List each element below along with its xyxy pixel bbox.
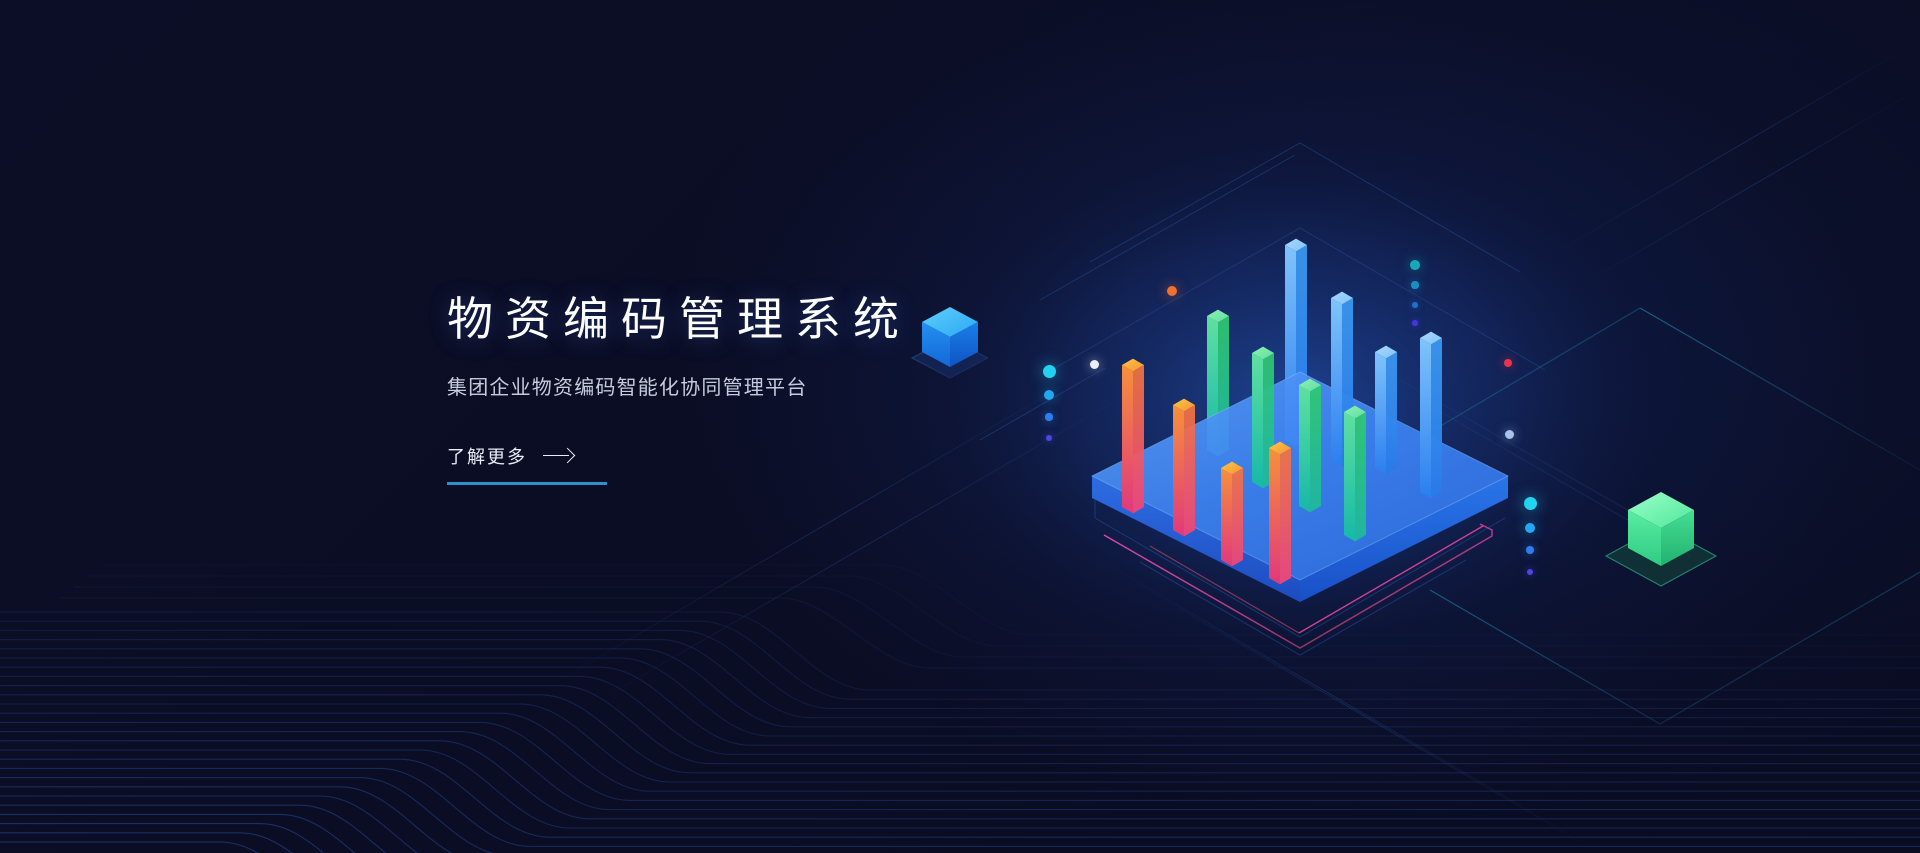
dot-column-top-right-dot: [1410, 260, 1420, 270]
hero-banner: 物资编码管理系统 集团企业物资编码智能化协同管理平台 了解更多: [0, 0, 1920, 853]
dot-column-top-right-dot: [1412, 320, 1417, 325]
learn-more-button[interactable]: 了解更多: [447, 443, 607, 485]
hero-text-block: 物资编码管理系统 集团企业物资编码智能化协同管理平台 了解更多: [447, 290, 1087, 485]
dot-lightblue: [1505, 430, 1514, 439]
dot-column-right-dot: [1525, 523, 1535, 533]
dot-column-right-dot: [1526, 546, 1534, 554]
dot-orange: [1167, 286, 1177, 296]
page-title: 物资编码管理系统: [447, 290, 1087, 349]
dot-red: [1504, 359, 1512, 367]
learn-more-label: 了解更多: [447, 443, 527, 469]
dot-white: [1090, 360, 1099, 369]
arrow-right-icon: [543, 449, 573, 463]
dot-column-top-right-dot: [1412, 302, 1418, 308]
dot-column-right-dot: [1524, 497, 1537, 510]
dot-column-right-dot: [1527, 569, 1534, 576]
page-subtitle: 集团企业物资编码智能化协同管理平台: [447, 373, 1087, 403]
dot-column-top-right-dot: [1411, 281, 1418, 288]
